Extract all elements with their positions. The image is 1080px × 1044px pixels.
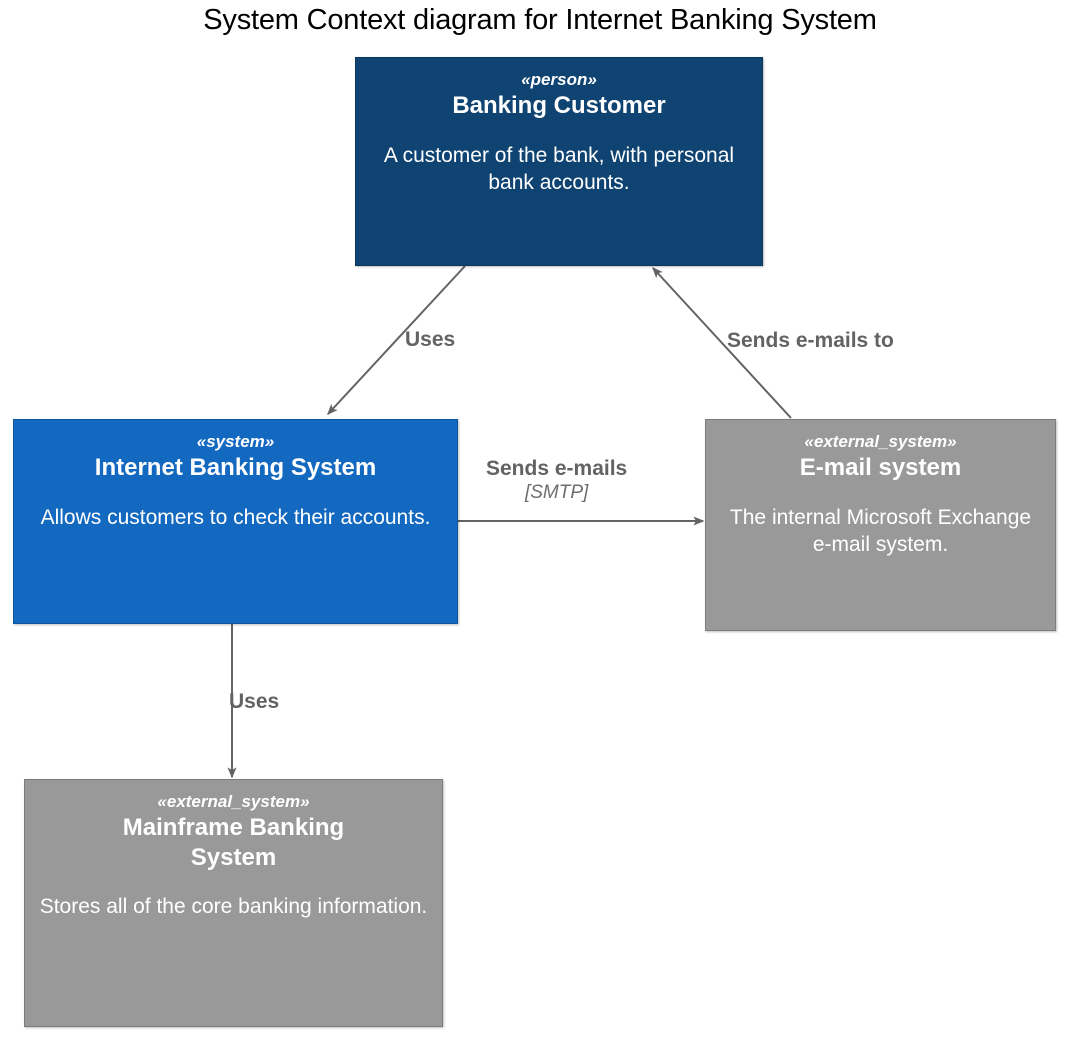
edge-label-text: Uses bbox=[405, 328, 455, 351]
node-name: Mainframe Banking System bbox=[84, 813, 384, 872]
edge-label-text: Sends e-mails bbox=[486, 457, 627, 480]
edge-label-email-sends-to-customer: Sends e-mails to bbox=[727, 329, 894, 354]
node-stereotype: «external_system» bbox=[804, 432, 956, 452]
node-internet-banking-system[interactable]: «system» Internet Banking System Allows … bbox=[13, 419, 458, 624]
node-name: Banking Customer bbox=[452, 91, 665, 120]
node-email-system[interactable]: «external_system» E-mail system The inte… bbox=[705, 419, 1056, 631]
edge-label-text: Sends e-mails to bbox=[727, 329, 894, 352]
node-description: A customer of the bank, with personal ba… bbox=[370, 143, 748, 197]
node-banking-customer[interactable]: «person» Banking Customer A customer of … bbox=[355, 57, 763, 266]
node-name: E-mail system bbox=[800, 453, 961, 482]
page-title: System Context diagram for Internet Bank… bbox=[0, 4, 1080, 37]
node-stereotype: «external_system» bbox=[157, 792, 309, 812]
edge-label-technology: [SMTP] bbox=[486, 482, 627, 504]
node-stereotype: «person» bbox=[521, 70, 597, 90]
edge-label-ibs-sends-emails: Sends e-mails [SMTP] bbox=[486, 457, 627, 504]
edge-label-text: Uses bbox=[229, 690, 279, 713]
edge-label-customer-uses-ibs: Uses bbox=[405, 328, 455, 353]
diagram-canvas: System Context diagram for Internet Bank… bbox=[0, 0, 1080, 1044]
node-mainframe-banking-system[interactable]: «external_system» Mainframe Banking Syst… bbox=[24, 779, 443, 1027]
node-description: Stores all of the core banking informati… bbox=[40, 894, 428, 921]
edge-label-ibs-uses-mainframe: Uses bbox=[229, 690, 279, 715]
node-stereotype: «system» bbox=[197, 432, 275, 452]
node-description: The internal Microsoft Exchange e-mail s… bbox=[720, 505, 1041, 559]
node-name: Internet Banking System bbox=[95, 453, 376, 482]
node-description: Allows customers to check their accounts… bbox=[41, 505, 431, 532]
